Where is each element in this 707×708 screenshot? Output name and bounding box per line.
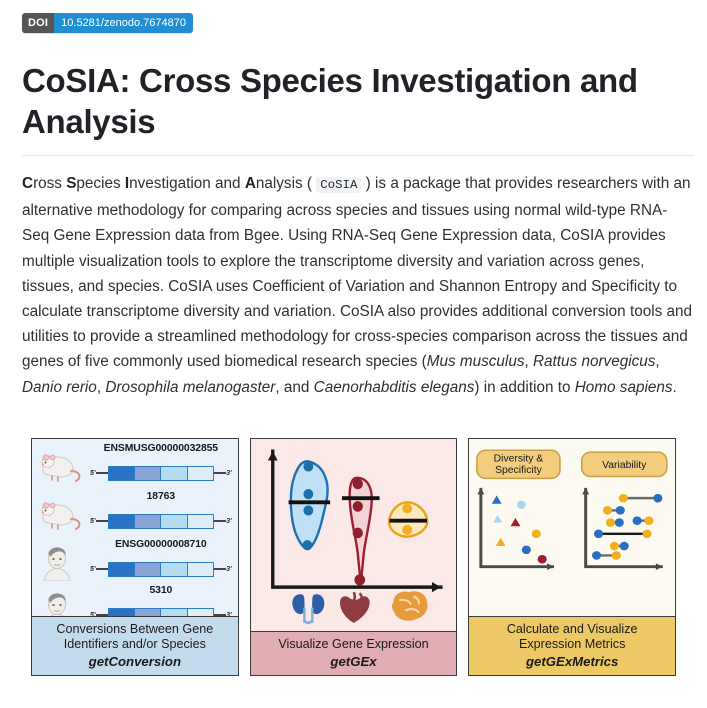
caption-line-2: Identifiers and/or Species bbox=[64, 637, 206, 651]
right-dumbbell-points bbox=[592, 494, 662, 560]
gene-exon-segment bbox=[188, 609, 213, 616]
svg-text:Specificity: Specificity bbox=[495, 465, 543, 476]
gene-exon-bar bbox=[108, 562, 215, 577]
gene-trailer-line bbox=[214, 568, 226, 570]
species-caenorhabditis-elegans: Caenorhabditis elegans bbox=[314, 379, 475, 396]
gene-exon-segment bbox=[161, 515, 187, 528]
human-icon bbox=[38, 541, 86, 581]
violin-heart bbox=[342, 478, 380, 586]
mouse-icon bbox=[38, 445, 86, 485]
three-prime-label: 3' bbox=[226, 518, 232, 525]
intro-t6: , bbox=[524, 353, 533, 370]
gene-exon-segment bbox=[109, 609, 135, 616]
mouse-icon bbox=[38, 493, 86, 533]
caption-line-1: Conversions Between Gene bbox=[56, 622, 213, 636]
gene-diagram: 5' 3' bbox=[90, 513, 232, 529]
cosia-code-chip: CoSIA bbox=[316, 177, 361, 193]
gene-diagram: 5' 3' bbox=[90, 561, 232, 577]
brain-icon bbox=[392, 591, 428, 620]
intro-t5: ) is a package that provides researchers… bbox=[22, 175, 692, 370]
intro-t11: . bbox=[673, 379, 677, 396]
gene-exon-segment bbox=[109, 467, 135, 480]
gene-row: ENSMUSG00000032855 5' 3' bbox=[32, 441, 238, 486]
heart-icon bbox=[340, 592, 370, 623]
violin-brain bbox=[389, 502, 427, 536]
gene-exon-bar bbox=[108, 608, 215, 616]
three-prime-label: 3' bbox=[226, 470, 232, 477]
function-name: getGExMetrics bbox=[473, 654, 671, 670]
metrics-plots: Diversity & Specificity Variability bbox=[469, 439, 675, 616]
gene-exon-segment bbox=[135, 467, 161, 480]
gene-exon-segment bbox=[109, 515, 135, 528]
human-icon bbox=[38, 587, 86, 616]
violin-kidney bbox=[288, 461, 330, 550]
function-name: getGEx bbox=[255, 654, 453, 670]
intro-bold-c: C bbox=[22, 175, 33, 192]
gene-trailer-line bbox=[214, 472, 226, 474]
intro-t1: ross bbox=[33, 175, 66, 192]
gene-trailer-line bbox=[214, 520, 226, 522]
panel-getgexmetrics: Diversity & Specificity Variability bbox=[468, 438, 676, 676]
species-drosophila-melanogaster: Drosophila melanogaster bbox=[105, 379, 275, 396]
intro-bold-a: A bbox=[245, 175, 256, 192]
intro-t2: pecies bbox=[76, 175, 124, 192]
caption-line-1: Calculate and Visualize bbox=[507, 622, 638, 636]
intro-t3: nvestigation and bbox=[129, 175, 245, 192]
gene-exon-segment bbox=[135, 515, 161, 528]
gene-exon-segment bbox=[188, 563, 213, 576]
figure-panels: ENSMUSG00000032855 5' 3' bbox=[31, 438, 676, 676]
gene-exon-segment bbox=[135, 609, 161, 616]
three-prime-label: 3' bbox=[226, 612, 232, 616]
gene-row: 18763 5' 3' bbox=[32, 489, 238, 534]
gene-exon-bar bbox=[108, 466, 215, 481]
species-danio-rerio: Danio rerio bbox=[22, 379, 97, 396]
gene-leader-line bbox=[96, 568, 108, 570]
gene-exon-segment bbox=[188, 467, 213, 480]
svg-text:Diversity &: Diversity & bbox=[494, 454, 544, 465]
panel-conversion: ENSMUSG00000032855 5' 3' bbox=[31, 438, 239, 676]
page-title: CoSIA: Cross Species Investigation and A… bbox=[22, 60, 694, 142]
three-prime-label: 3' bbox=[226, 566, 232, 573]
gene-id-label: ENSG00000008710 bbox=[90, 539, 232, 550]
kidney-icon bbox=[292, 594, 324, 623]
panel-getgexmetrics-caption: Calculate and Visualize Expression Metri… bbox=[469, 616, 675, 676]
panel-conversion-art: ENSMUSG00000032855 5' 3' bbox=[32, 439, 238, 616]
gene-exon-bar bbox=[108, 514, 215, 529]
gene-exon-segment bbox=[161, 563, 187, 576]
gene-diagram: 5' 3' bbox=[90, 465, 232, 481]
gene-row: ENSG00000008710 5' 3' bbox=[32, 537, 238, 582]
intro-t7: , bbox=[655, 353, 659, 370]
gene-exon-segment bbox=[135, 563, 161, 576]
intro-t9: , and bbox=[275, 379, 313, 396]
svg-text:Variability: Variability bbox=[602, 460, 647, 471]
gene-exon-segment bbox=[109, 563, 135, 576]
panel-getgex-caption: Visualize Gene Expression getGEx bbox=[251, 631, 457, 675]
panel-getgex: Visualize Gene Expression getGEx bbox=[250, 438, 458, 676]
page-root: DOI 10.5281/zenodo.7674870 CoSIA: Cross … bbox=[0, 0, 707, 708]
gene-id-label: 5310 bbox=[90, 585, 232, 596]
left-scatter-points bbox=[492, 495, 547, 563]
function-name: getConversion bbox=[36, 654, 234, 670]
gene-id-label: ENSMUSG00000032855 bbox=[90, 443, 232, 454]
gene-leader-line bbox=[96, 472, 108, 474]
doi-badge[interactable]: DOI 10.5281/zenodo.7674870 bbox=[22, 13, 193, 33]
gene-exon-segment bbox=[161, 467, 187, 480]
label-diversity-specificity: Diversity & Specificity bbox=[477, 450, 560, 478]
intro-t4: nalysis ( bbox=[256, 175, 316, 192]
caption-line-2: Expression Metrics bbox=[519, 637, 625, 651]
violin-plot bbox=[251, 439, 457, 631]
doi-badge-value: 10.5281/zenodo.7674870 bbox=[54, 13, 193, 33]
intro-bold-s: S bbox=[66, 175, 76, 192]
panel-getgex-art bbox=[251, 439, 457, 631]
species-mus-musculus: Mus musculus bbox=[427, 353, 525, 370]
caption-line-1: Visualize Gene Expression bbox=[278, 637, 428, 651]
gene-diagram: 5' 3' bbox=[90, 607, 232, 616]
gene-row: 5310 5' 3' bbox=[32, 583, 238, 616]
doi-badge-key: DOI bbox=[22, 13, 54, 33]
gene-id-label: 18763 bbox=[90, 491, 232, 502]
gene-leader-line bbox=[96, 520, 108, 522]
panel-conversion-caption: Conversions Between Gene Identifiers and… bbox=[32, 616, 238, 676]
species-rattus-norvegicus: Rattus norvegicus bbox=[533, 353, 655, 370]
panel-getgexmetrics-art: Diversity & Specificity Variability bbox=[469, 439, 675, 616]
species-homo-sapiens: Homo sapiens bbox=[575, 379, 673, 396]
gene-exon-segment bbox=[188, 515, 213, 528]
title-divider bbox=[22, 155, 694, 156]
gene-leader-line bbox=[96, 614, 108, 615]
gene-exon-segment bbox=[161, 609, 187, 616]
gene-trailer-line bbox=[214, 614, 226, 615]
label-variability: Variability bbox=[582, 452, 667, 476]
intro-paragraph: Cross Species Investigation and Analysis… bbox=[22, 171, 694, 400]
intro-t10: ) in addition to bbox=[474, 379, 574, 396]
